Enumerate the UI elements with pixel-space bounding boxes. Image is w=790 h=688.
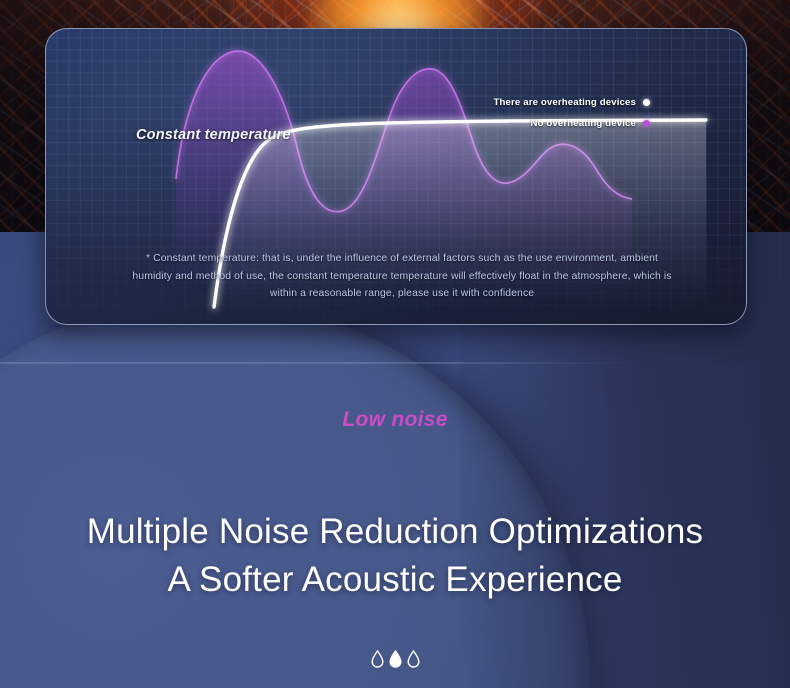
promo-page: Constant temperature There are overheati… [0,0,790,688]
chart-legend: There are overheating devices No overhea… [434,97,650,139]
legend-item-no-overheating: No overheating device [434,118,650,129]
chart-footnote: * Constant temperature: that is, under t… [132,250,672,303]
legend-label-no-overheating: No overheating device [530,118,636,129]
low-noise-eyebrow: Low noise [0,408,790,432]
dot-white-icon [643,99,650,106]
droplet-outline-icon [371,650,384,668]
temperature-chart-card: Constant temperature There are overheati… [45,28,747,325]
constant-temperature-label: Constant temperature [136,127,291,143]
headline-block: Multiple Noise Reduction Optimizations A… [0,508,790,604]
droplet-filled-icon [389,650,402,668]
headline-line-1: Multiple Noise Reduction Optimizations [0,508,790,556]
headline-line-2: A Softer Acoustic Experience [0,556,790,604]
legend-label-overheating: There are overheating devices [494,97,636,108]
dot-purple-icon [643,120,650,127]
droplet-outline-icon [407,650,420,668]
legend-item-overheating: There are overheating devices [434,97,650,108]
droplet-indicator-group [0,650,790,668]
